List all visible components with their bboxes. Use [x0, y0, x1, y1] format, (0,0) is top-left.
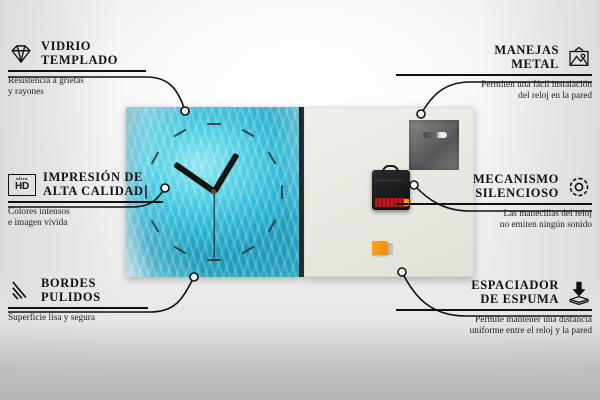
feature-heading: ultra HD IMPRESIÓN DE ALTA CALIDAD — [8, 171, 223, 198]
hanger-slot — [423, 132, 447, 138]
clock-tick — [268, 151, 277, 164]
feature-title-line1: MANEJAS — [494, 44, 559, 58]
feature-manejas-metal[interactable]: MANEJAS METAL Permiten una fácil instala… — [377, 44, 592, 102]
feature-title-line2: DE ESPUMA — [471, 293, 559, 307]
ultra-hd-icon: ultra HD — [8, 174, 36, 196]
feature-desc-line2: y rayones — [8, 87, 223, 98]
feature-title-line1: ESPACIADOR — [471, 279, 559, 293]
feature-desc-line1: Colores intensos — [8, 207, 223, 218]
picture-hanger-icon — [566, 45, 592, 71]
feature-title-line2: SILENCIOSO — [473, 187, 559, 201]
feature-heading: MANEJAS METAL — [377, 44, 592, 71]
feature-impresion-alta-calidad[interactable]: ultra HD IMPRESIÓN DE ALTA CALIDAD Color… — [8, 171, 223, 229]
clock-tick — [268, 219, 277, 232]
foam-spacer-shadow — [387, 243, 393, 255]
feature-desc-line1: Permite mantener una distancia — [377, 315, 592, 326]
feature-title-line1: MECANISMO — [473, 173, 559, 187]
feature-espaciador-espuma[interactable]: ESPACIADOR DE ESPUMA Permite mantener un… — [377, 279, 592, 337]
clock-tick — [207, 123, 221, 125]
feature-rule — [8, 201, 163, 203]
clock-tick — [207, 259, 221, 261]
feature-rule — [396, 309, 592, 311]
feature-desc-line2: uniforme entre el reloj y la pared — [377, 326, 592, 337]
feature-title-line1: BORDES — [41, 277, 101, 291]
foam-spacer-icon — [566, 280, 592, 306]
foam-spacer — [372, 241, 387, 255]
gear-icon — [566, 174, 592, 200]
feature-heading: VIDRIO TEMPLADO — [8, 40, 223, 67]
feature-desc-line1: Resistencia a grietas — [8, 76, 223, 87]
clock-tick — [173, 128, 186, 137]
feature-heading: ESPACIADOR DE ESPUMA — [377, 279, 592, 306]
feature-title-line1: VIDRIO — [41, 40, 118, 54]
feature-title-line1: IMPRESIÓN DE — [43, 171, 144, 185]
feature-bordes-pulidos[interactable]: BORDES PULIDOS Superficie lisa y segura — [8, 277, 223, 324]
clock-tick — [241, 246, 254, 255]
feature-desc-line2: no emiten ningún sonido — [377, 220, 592, 231]
feature-heading: MECANISMO SILENCIOSO — [377, 173, 592, 200]
clock-tick — [241, 128, 254, 137]
feature-rule — [8, 307, 148, 309]
feature-rule — [396, 203, 592, 205]
feature-desc-line2: del reloj en la pared — [377, 91, 592, 102]
feature-vidrio-templado[interactable]: VIDRIO TEMPLADO Resistencia a grietas y … — [8, 40, 223, 98]
feature-title-line2: METAL — [494, 58, 559, 72]
hanger-plate — [409, 120, 459, 170]
feature-desc-line1: Superficie lisa y segura — [8, 313, 223, 324]
feature-rule — [8, 70, 146, 72]
diamond-icon — [8, 41, 34, 67]
clock-tick — [150, 151, 159, 164]
feature-desc-line1: Permiten una fácil instalación — [377, 80, 592, 91]
feature-heading: BORDES PULIDOS — [8, 277, 223, 304]
feature-mecanismo-silencioso[interactable]: MECANISMO SILENCIOSO Las manecillas del … — [377, 173, 592, 231]
clock-tick — [281, 185, 283, 199]
feature-title-line2: ALTA CALIDAD — [43, 185, 144, 199]
ultra-hd-large-label: HD — [15, 182, 29, 192]
infographic-stage: VIDRIO TEMPLADO Resistencia a grietas y … — [0, 0, 600, 400]
feature-title-line2: PULIDOS — [41, 291, 101, 305]
polished-edges-icon — [8, 278, 34, 304]
feature-desc-line1: Las manecillas del reloj — [377, 209, 592, 220]
feature-rule — [396, 74, 592, 76]
clock-tick — [173, 246, 186, 255]
feature-desc-line2: e imagen vívida — [8, 218, 223, 229]
feature-title-line2: TEMPLADO — [41, 54, 118, 68]
